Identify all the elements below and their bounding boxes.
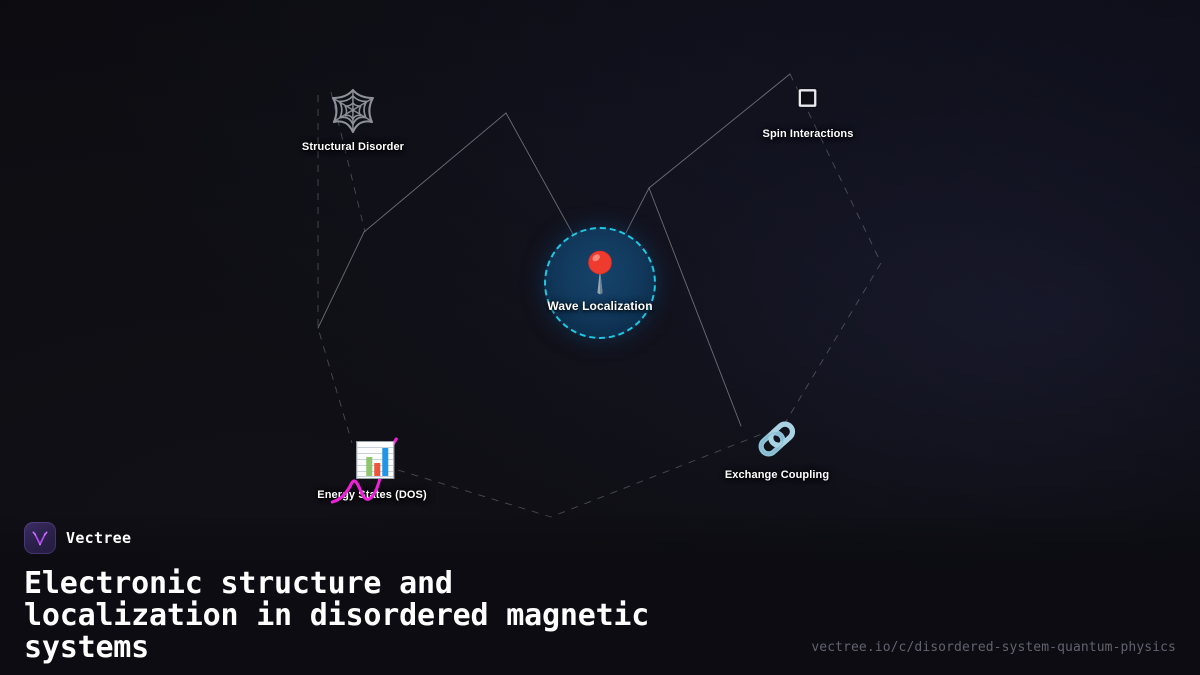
bar-chart-bar xyxy=(382,448,388,476)
bar-chart-bar xyxy=(374,463,380,476)
vectree-v-logo-glyph xyxy=(30,528,50,548)
round-pushpin-glyph xyxy=(585,249,615,295)
bar-chart-glyph xyxy=(350,437,394,481)
node-exchange-coupling[interactable]: Exchange Coupling xyxy=(725,411,829,481)
node-label-exchange-coupling: Exchange Coupling xyxy=(725,469,829,481)
spider-web-icon xyxy=(302,83,404,139)
vectree-v-logo-icon xyxy=(24,522,56,554)
graph-edge xyxy=(649,188,741,426)
focus-node-label: Wave Localization xyxy=(547,299,652,313)
node-spin-interactions[interactable]: Spin Interactions xyxy=(763,70,854,140)
share-card-canvas: Wave Localization Structural Disorder xyxy=(0,0,1200,675)
node-label-energy-states-dos: Energy States (DOS) xyxy=(317,489,426,501)
chain-link-icon xyxy=(725,411,829,467)
black-square-button-glyph xyxy=(797,87,819,109)
node-label-structural-disorder: Structural Disorder xyxy=(302,141,404,153)
node-label-spin-interactions: Spin Interactions xyxy=(763,128,854,140)
chain-link-glyph xyxy=(752,414,802,464)
node-energy-states-dos[interactable]: Energy States (DOS) xyxy=(317,431,426,501)
brand-name: Vectree xyxy=(66,529,131,547)
page-title: Electronic structure and localization in… xyxy=(24,568,814,664)
bar-chart-bar xyxy=(366,457,372,476)
focus-node-content: Wave Localization xyxy=(544,227,656,339)
black-square-button-icon xyxy=(763,70,854,126)
round-pushpin-icon xyxy=(585,249,615,300)
share-url: vectree.io/c/disordered-system-quantum-p… xyxy=(811,640,1176,655)
spider-web-glyph xyxy=(327,85,379,137)
bar-chart-frame xyxy=(356,441,394,479)
bar-chart-icon xyxy=(317,431,426,487)
focus-node-wave-localization[interactable]: Wave Localization xyxy=(544,227,656,339)
graph-edge xyxy=(398,432,767,517)
node-structural-disorder[interactable]: Structural Disorder xyxy=(302,83,404,153)
footer-bar: Vectree Electronic structure and localiz… xyxy=(0,510,1200,675)
brand-row[interactable]: Vectree xyxy=(24,510,1176,556)
